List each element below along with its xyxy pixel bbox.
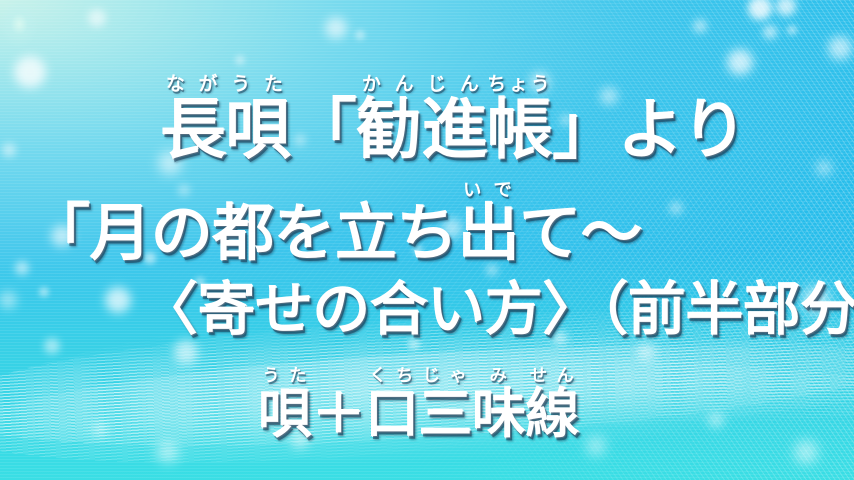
ruby-base: 線 (525, 382, 578, 445)
ruby-group: 線せん (525, 382, 578, 445)
ruby-furigana: み (472, 366, 525, 386)
ruby-furigana: じん (421, 74, 486, 95)
ruby-furigana: じゃ (418, 366, 471, 386)
title-line-4: 唄うた＋口くち三じゃ味み線せん (258, 366, 579, 448)
ruby-group: 帳ちょう (487, 91, 552, 168)
title-line-3: 〈寄せの合い方〉（前半部分）」 (140, 262, 854, 346)
ruby-group: 口くち (365, 382, 418, 445)
ruby-group: 進じん (421, 91, 486, 168)
plain-text-run: て〜 (519, 196, 642, 269)
ruby-base: 帳 (487, 91, 552, 168)
ruby-group: 出いで (458, 196, 519, 269)
ruby-base: 出 (458, 196, 519, 269)
ruby-furigana: なが (160, 74, 225, 95)
ruby-group: 味み (472, 382, 525, 445)
ruby-furigana: ちょう (487, 74, 552, 95)
ruby-furigana: かん (356, 74, 421, 95)
ruby-base: 進 (421, 91, 486, 168)
ruby-base: 唄 (258, 382, 311, 445)
ruby-group: 唄うた (258, 382, 311, 445)
title-card-slide: 長なが唄うた「勧かん進じん帳ちょう」より 「月の都を立ち出いでて〜 〈寄せの合い… (0, 0, 854, 480)
ruby-furigana: いで (458, 180, 519, 201)
ruby-furigana: うた (225, 74, 290, 95)
plain-text-run: ＋ (311, 382, 364, 445)
title-line-1: 長なが唄うた「勧かん進じん帳ちょう」より (160, 74, 747, 172)
ruby-base: 三 (418, 382, 471, 445)
ruby-furigana: くち (365, 366, 418, 386)
ruby-group: 長なが (160, 91, 225, 168)
ruby-furigana: せん (525, 366, 578, 386)
plain-text-run: 」より (552, 91, 747, 168)
ruby-base: 勧 (356, 91, 421, 168)
title-text-block: 長なが唄うた「勧かん進じん帳ちょう」より 「月の都を立ち出いでて〜 〈寄せの合い… (0, 0, 854, 480)
plain-text-run: 「月の都を立ち (28, 196, 458, 269)
plain-text-run: 〈寄せの合い方〉（前半部分）」 (140, 275, 854, 343)
ruby-furigana: うた (258, 366, 311, 386)
ruby-group: 三じゃ (418, 382, 471, 445)
ruby-group: 唄うた (225, 91, 290, 168)
plain-text-run: 「 (291, 91, 356, 168)
ruby-group: 勧かん (356, 91, 421, 168)
ruby-base: 長 (160, 91, 225, 168)
title-line-2: 「月の都を立ち出いでて〜 (28, 180, 642, 272)
ruby-base: 味 (472, 382, 525, 445)
ruby-base: 口 (365, 382, 418, 445)
ruby-base: 唄 (225, 91, 290, 168)
